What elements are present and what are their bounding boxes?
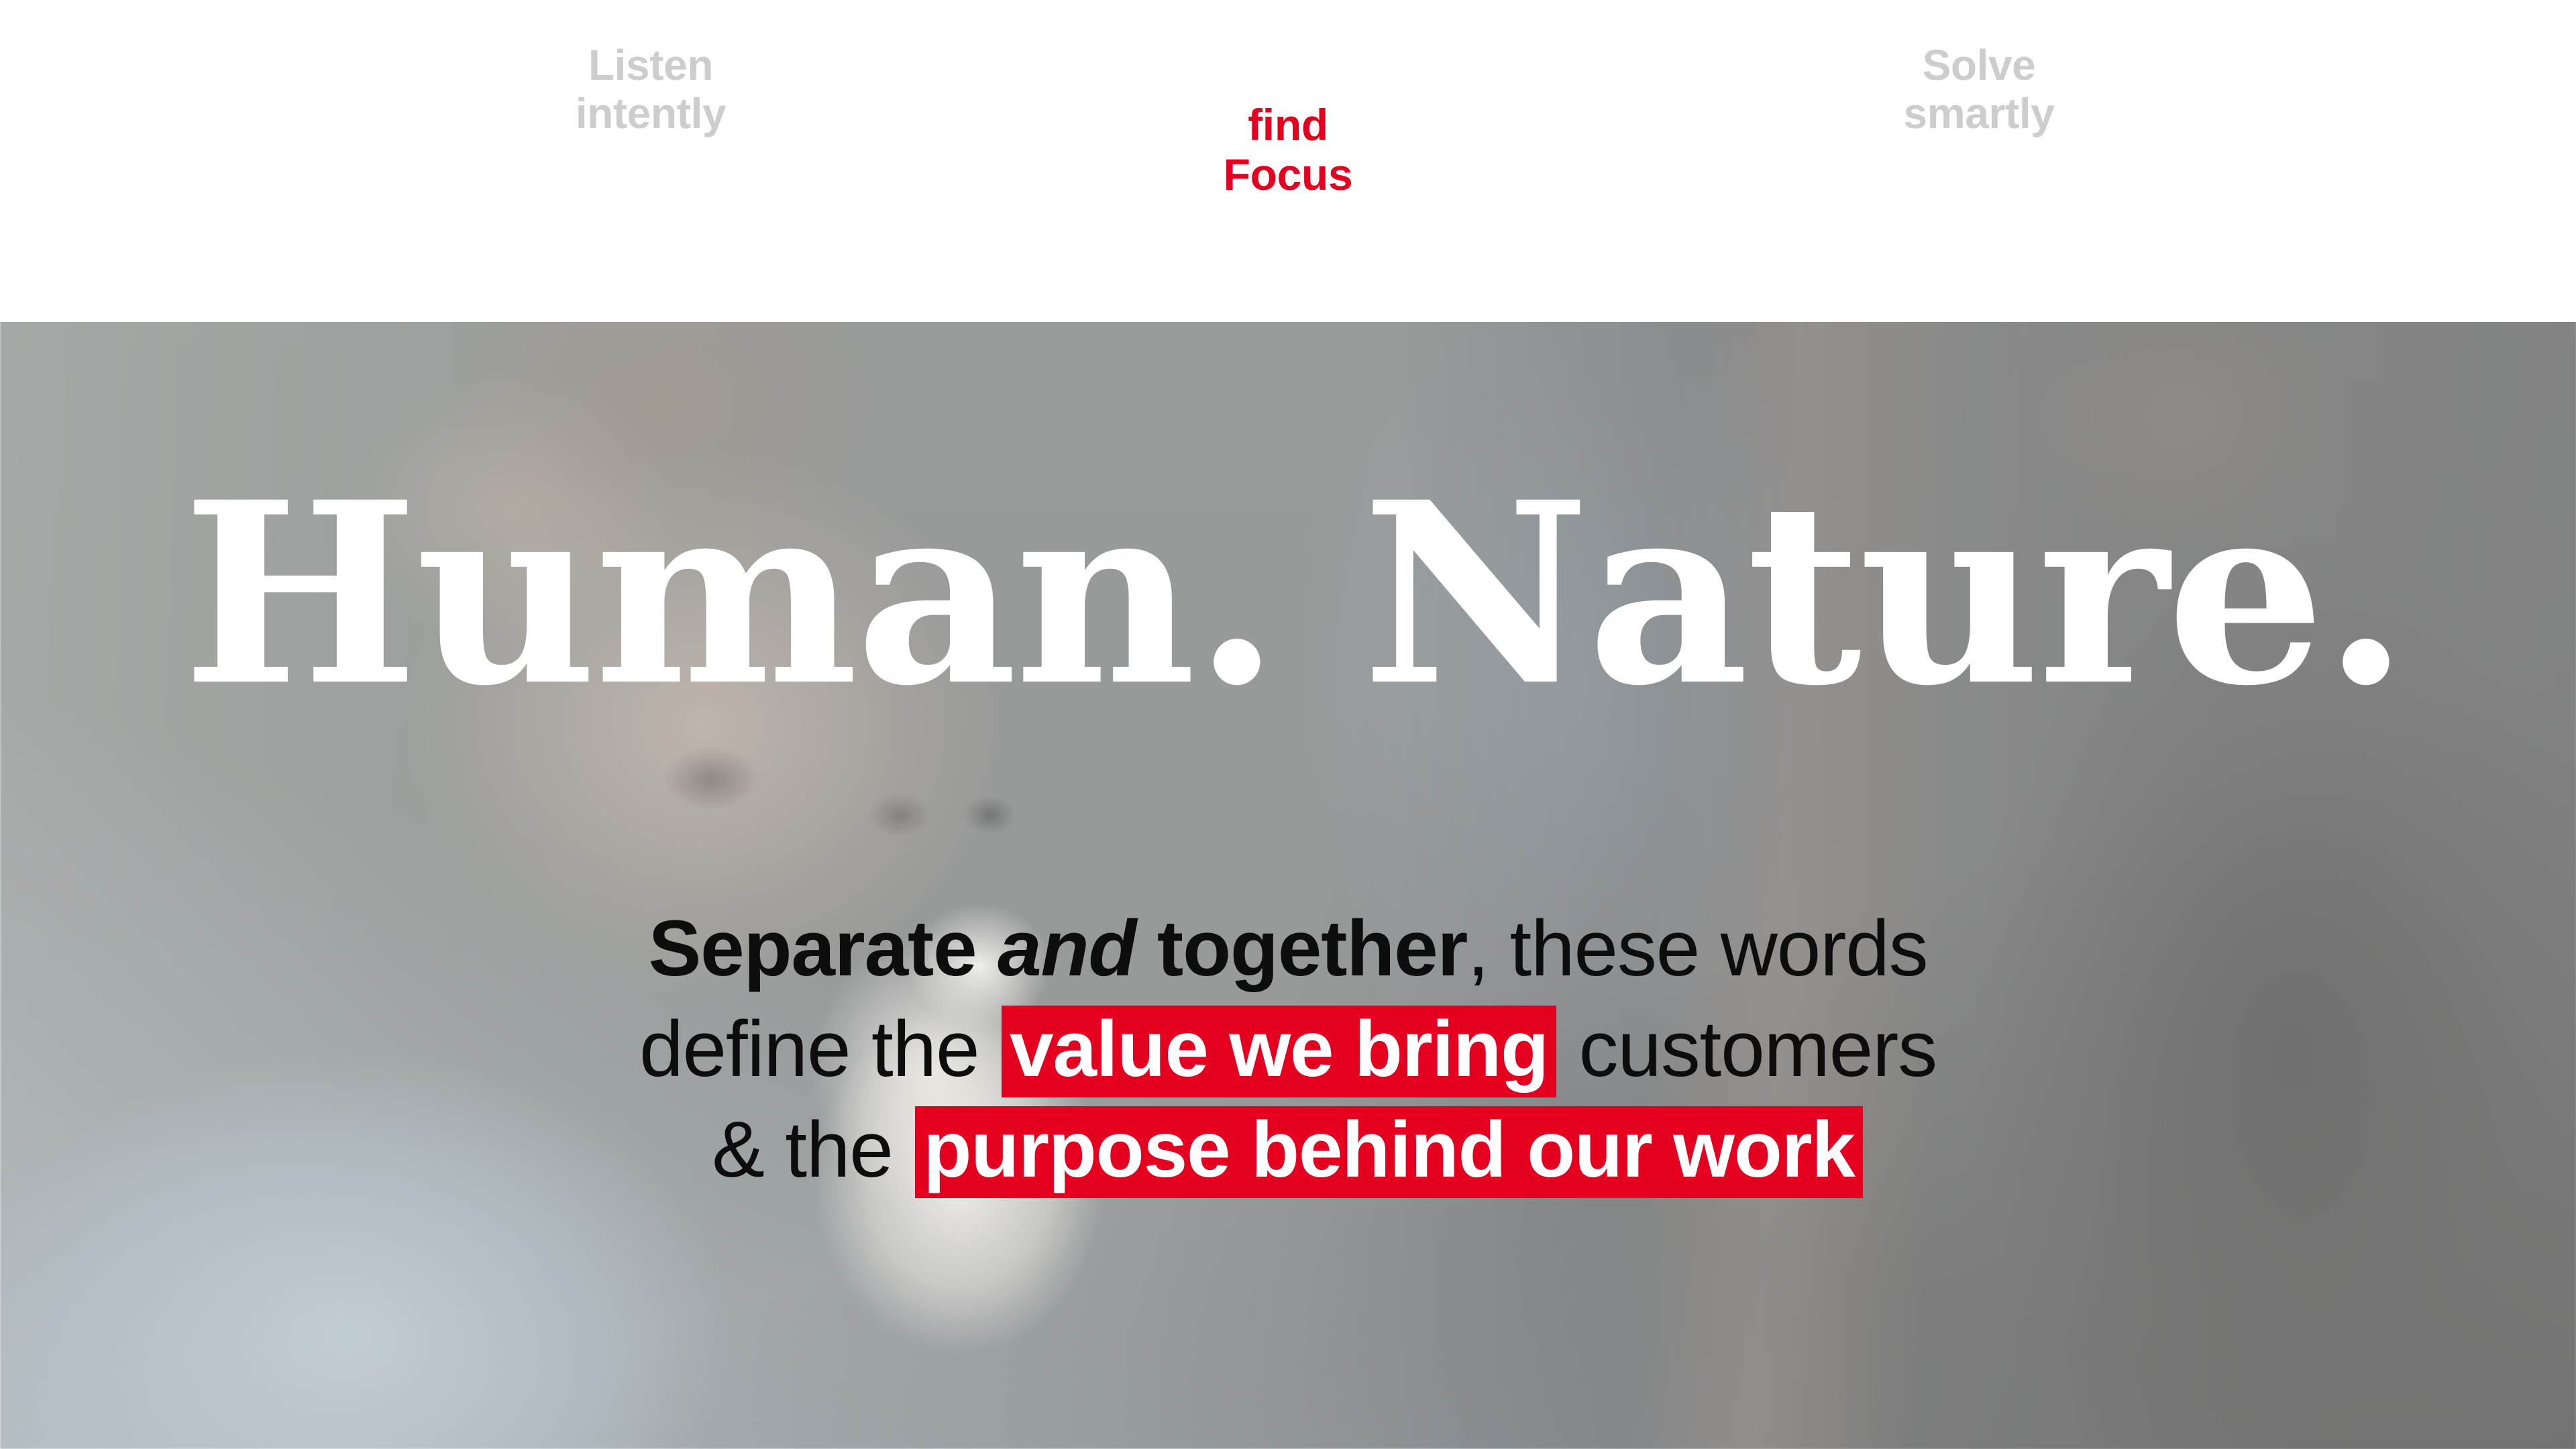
hero-subtitle: Separate and together, these words defin… <box>0 899 2576 1201</box>
tab-find-focus-line1: find <box>1248 100 1328 150</box>
tab-find-focus-label: find Focus <box>1062 0 1514 200</box>
subtitle-bold-together: together <box>1157 904 1467 993</box>
highlight-purpose-behind-our-work: purpose behind our work <box>915 1106 1862 1198</box>
tab-solve-smartly-line2: smartly <box>1904 89 2055 138</box>
tab-listen-intently-line1: Listen <box>588 41 713 89</box>
tab-find-focus[interactable]: find Focus <box>1062 0 1514 314</box>
headline-period-2: . <box>2322 447 2407 741</box>
slide-canvas: Listen intently Solve smartly find Focus… <box>0 0 2576 1449</box>
headline-word-human: Human <box>182 447 1193 741</box>
headline-period-1: . <box>1193 447 1278 741</box>
headline-word-nature: Nature <box>1362 447 2322 741</box>
tab-listen-intently[interactable]: Listen intently <box>463 0 839 138</box>
subtitle-line-3-lead: & the <box>712 1106 893 1194</box>
subtitle-italic-and: and <box>998 904 1136 993</box>
subtitle-line-3: & the purpose behind our work <box>0 1100 2576 1201</box>
tab-find-focus-line2: Focus <box>1224 150 1353 199</box>
subtitle-line-2-trail: customers <box>1578 1005 1936 1093</box>
subtitle-line-1: Separate and together, these words <box>0 899 2576 1000</box>
subtitle-line-2: define the value we bring customers <box>0 1000 2576 1100</box>
subtitle-bold-separate: Separate <box>649 904 977 993</box>
tab-solve-smartly[interactable]: Solve smartly <box>1791 0 2167 138</box>
subtitle-line-1-rest: , these words <box>1467 904 1927 993</box>
highlight-value-we-bring: value we bring <box>1002 1006 1556 1097</box>
page-title: Human. Nature. <box>0 470 2576 719</box>
tab-solve-smartly-line1: Solve <box>1923 41 2036 89</box>
subtitle-line-2-lead: define the <box>639 1005 979 1093</box>
tab-listen-intently-line2: intently <box>576 89 726 138</box>
